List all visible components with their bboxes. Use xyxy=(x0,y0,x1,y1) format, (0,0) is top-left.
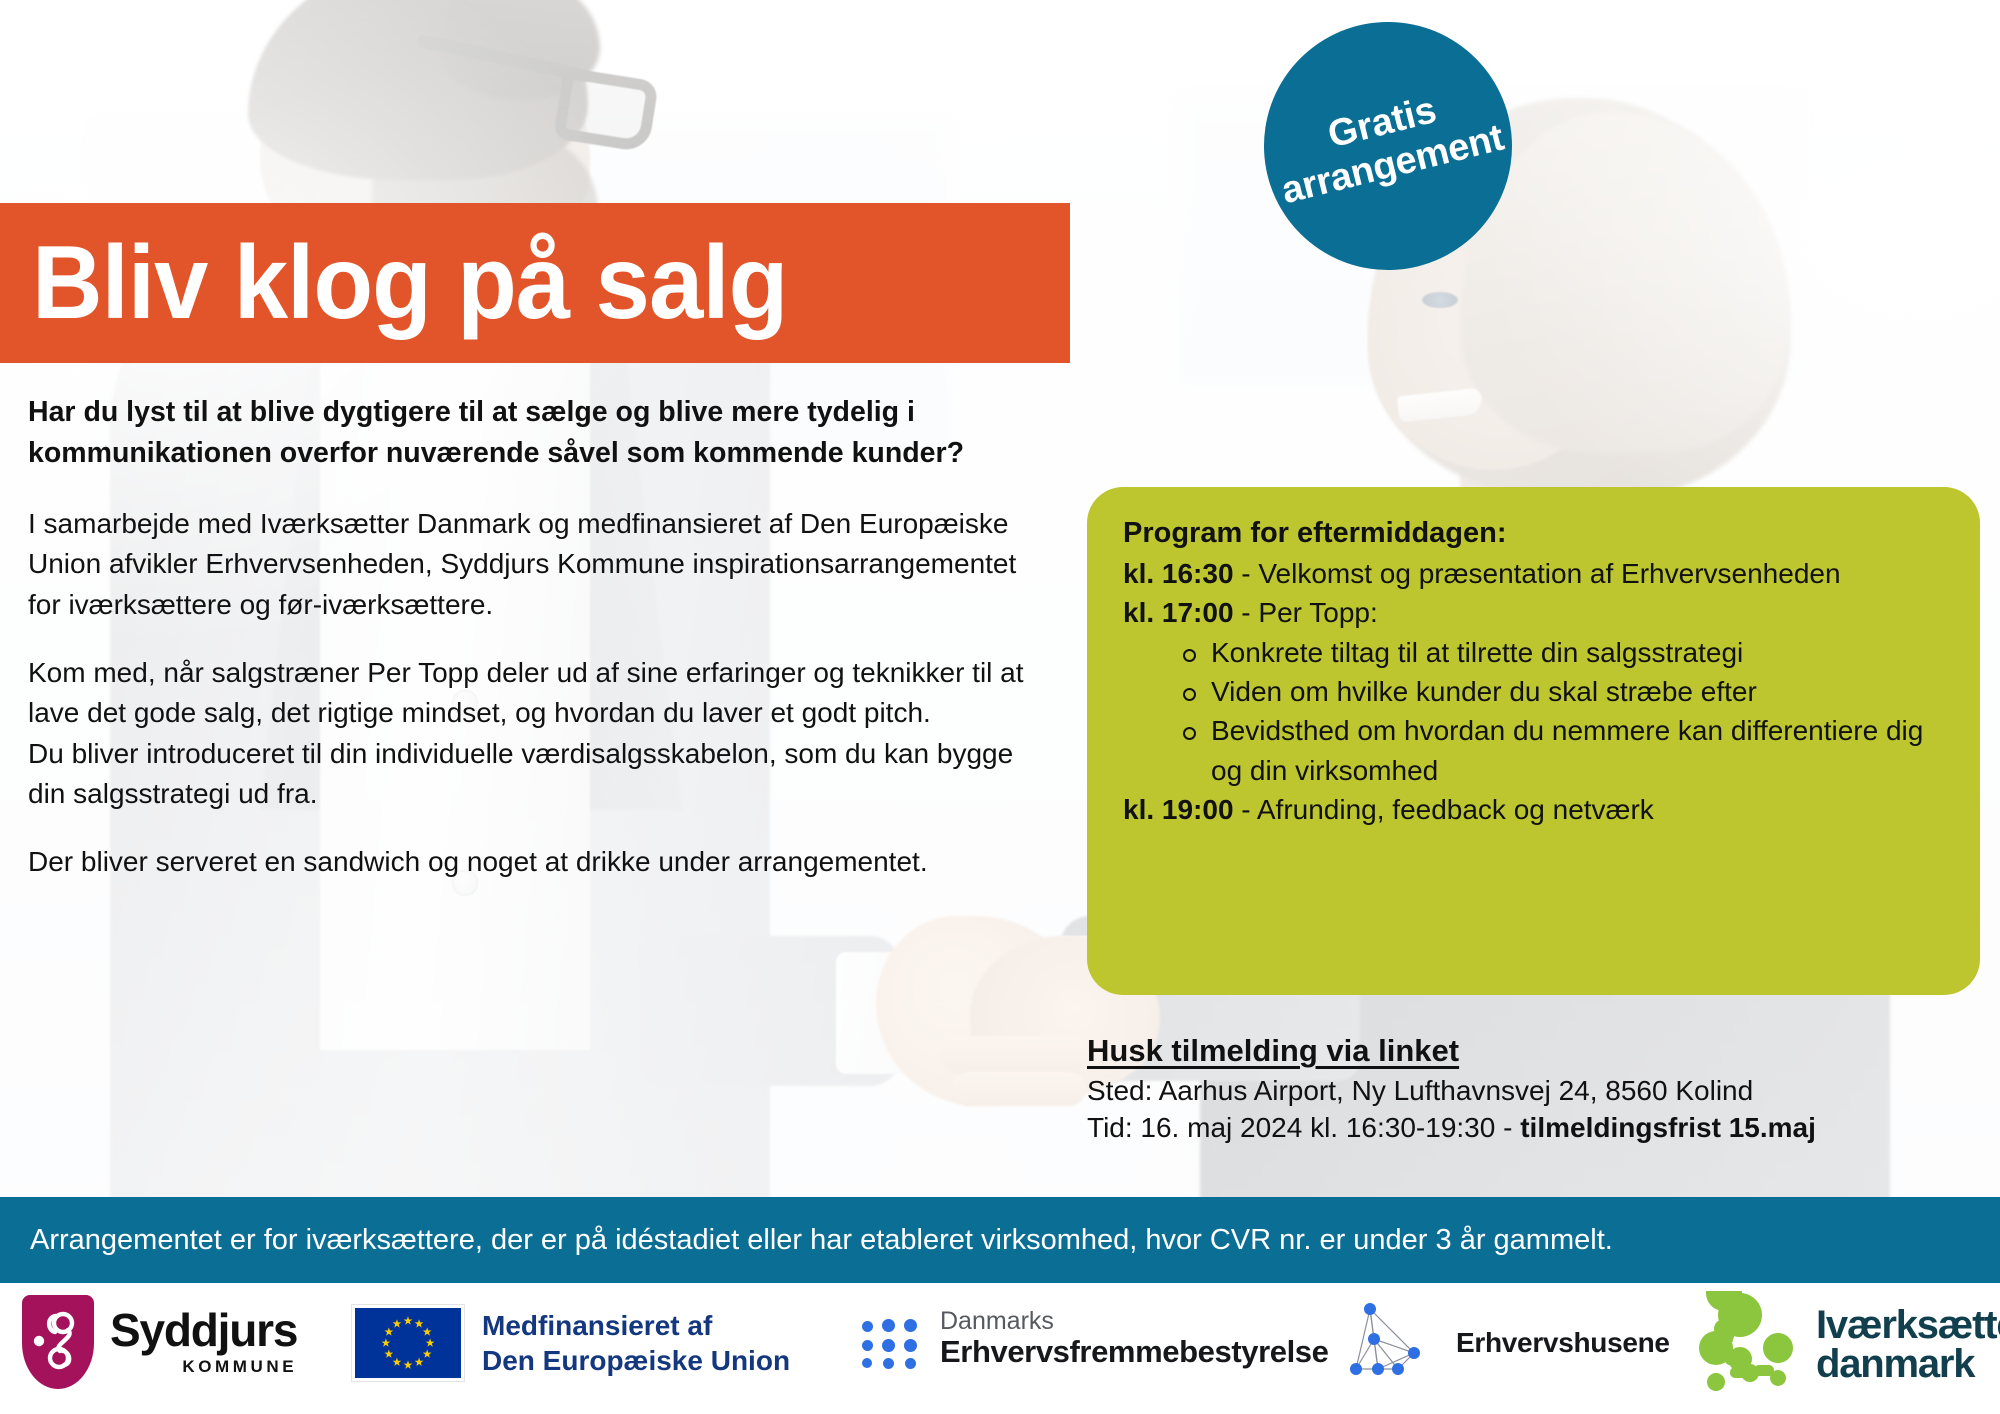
eu-stars-icon xyxy=(355,1308,461,1378)
eligibility-banner-text: Arrangementet er for iværksættere, der e… xyxy=(0,1224,1613,1257)
body-paragraph-3: Du bliver introduceret til din individue… xyxy=(28,734,1048,815)
logo-ivaerksaetter-danmark: Iværksætter- danmark xyxy=(1694,1291,2000,1399)
body-paragraph-2: Kom med, når salgstræner Per Topp deler … xyxy=(28,653,1048,734)
syddjurs-name: Syddjurs xyxy=(110,1307,297,1353)
eu-line-2: Den Europæiske Union xyxy=(482,1343,790,1378)
program-item-3-text: - Afrunding, feedback og netværk xyxy=(1234,794,1654,825)
logo-strip: Syddjurs KOMMUNE xyxy=(0,1283,2000,1414)
logo-erhvervshusene: Erhvervshusene xyxy=(1348,1303,1670,1383)
program-item-2-time: kl. 17:00 xyxy=(1123,597,1234,628)
erhvervshusene-network-icon xyxy=(1348,1303,1440,1383)
logo-danmarks-erhvervsfremmebestyrelse: Danmarks Erhvervsfremmebestyrelse xyxy=(860,1307,1328,1370)
program-box: Program for eftermiddagen: kl. 16:30 - V… xyxy=(1087,487,1980,995)
program-item-3-time: kl. 19:00 xyxy=(1123,794,1234,825)
erhvervsfremme-line-2: Erhvervsfremmebestyrelse xyxy=(940,1335,1328,1370)
eu-wordmark: Medfinansieret af Den Europæiske Union xyxy=(482,1308,790,1379)
registration-heading[interactable]: Husk tilmelding via linket xyxy=(1087,1030,1997,1072)
program-item-1-time: kl. 16:30 xyxy=(1123,558,1234,589)
time-line: Tid: 16. maj 2024 kl. 16:30-19:30 - tilm… xyxy=(1087,1109,1997,1147)
syddjurs-knot-icon xyxy=(22,1295,94,1389)
ivaerksaetter-wordmark: Iværksætter- danmark xyxy=(1816,1306,2000,1385)
ivaerksaetter-line-2: danmark xyxy=(1816,1344,2000,1385)
eligibility-banner: Arrangementet er for iværksættere, der e… xyxy=(0,1197,2000,1283)
poster-root: Gratis arrangement Bliv klog på salg Har… xyxy=(0,0,2000,1414)
eu-line-1: Medfinansieret af xyxy=(482,1308,790,1343)
body-paragraph-4: Der bliver serveret en sandwich og noget… xyxy=(28,842,1048,882)
program-heading: Program for eftermiddagen: xyxy=(1123,513,1950,554)
program-item-3: kl. 19:00 - Afrunding, feedback og netvæ… xyxy=(1123,790,1950,829)
body-paragraph-1: I samarbejde med Iværksætter Danmark og … xyxy=(28,504,1048,625)
program-bullet: Viden om hvilke kunder du skal stræbe ef… xyxy=(1179,672,1950,711)
syddjurs-shield-icon xyxy=(22,1295,94,1389)
syddjurs-wordmark: Syddjurs KOMMUNE xyxy=(110,1307,297,1377)
page-title: Bliv klog på salg xyxy=(0,231,787,335)
program-item-1: kl. 16:30 - Velkomst og præsentation af … xyxy=(1123,554,1950,593)
logo-syddjurs-kommune: Syddjurs KOMMUNE xyxy=(22,1295,297,1389)
ivaerksaetter-line-1: Iværksætter- xyxy=(1816,1306,2000,1344)
time-prefix: Tid: 16. maj 2024 kl. 16:30-19:30 - xyxy=(1087,1112,1520,1143)
eu-flag-icon xyxy=(352,1305,464,1381)
program-item-1-text: - Velkomst og præsentation af Erhvervsen… xyxy=(1234,558,1841,589)
registration-details: Husk tilmelding via linket Sted: Aarhus … xyxy=(1087,1030,1997,1147)
erhvervsfremme-line-1: Danmarks xyxy=(940,1307,1328,1335)
program-item-2: kl. 17:00 - Per Topp: xyxy=(1123,593,1950,632)
venue-line: Sted: Aarhus Airport, Ny Lufthavnsvej 24… xyxy=(1087,1072,1997,1110)
program-bullet: Bevidsthed om hvordan du nemmere kan dif… xyxy=(1179,711,1950,790)
erhvervsfremme-dots-icon xyxy=(860,1307,922,1369)
erhvervsfremme-wordmark: Danmarks Erhvervsfremmebestyrelse xyxy=(940,1307,1328,1370)
program-bullet: Konkrete tiltag til at tilrette din salg… xyxy=(1179,633,1950,672)
program-bullet-list: Konkrete tiltag til at tilrette din salg… xyxy=(1179,633,1950,791)
erhvervshusene-name: Erhvervshusene xyxy=(1456,1327,1670,1359)
registration-deadline: tilmeldingsfrist 15.maj xyxy=(1520,1112,1816,1143)
title-bar: Bliv klog på salg xyxy=(0,203,1070,363)
body-text-column: Har du lyst til at blive dygtigere til a… xyxy=(28,392,1048,911)
program-item-2-text: - Per Topp: xyxy=(1234,597,1378,628)
lead-paragraph: Har du lyst til at blive dygtigere til a… xyxy=(28,392,1048,474)
ivaerksaetter-nodes-icon xyxy=(1694,1291,1810,1399)
logo-european-union: Medfinansieret af Den Europæiske Union xyxy=(352,1305,790,1381)
syddjurs-subtitle: KOMMUNE xyxy=(110,1357,297,1377)
